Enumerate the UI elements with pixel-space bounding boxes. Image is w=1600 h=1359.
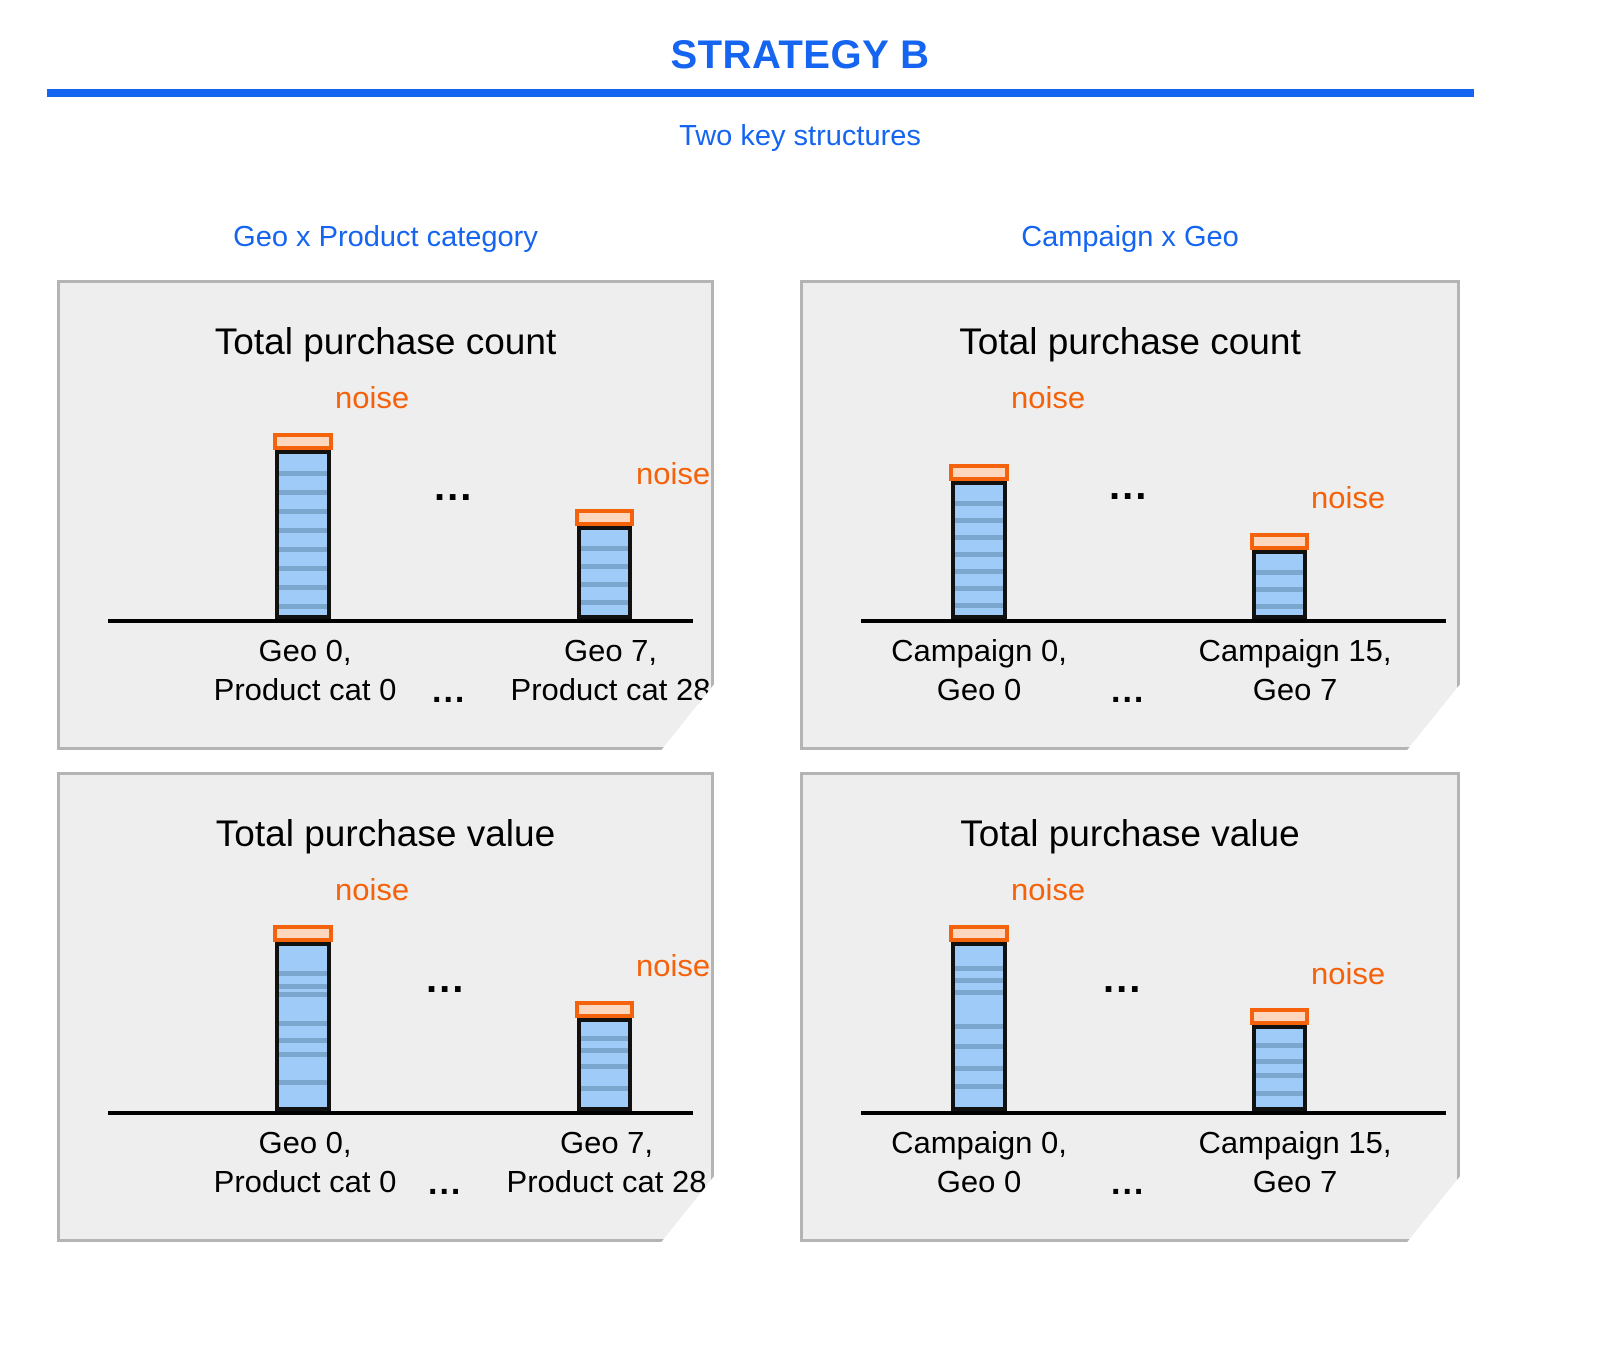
noise-bar (1250, 533, 1309, 550)
category-labels: Campaign 0, Geo 0 ... Campaign 15, Geo 7 (803, 631, 1457, 731)
value-bar (577, 526, 632, 619)
noise-label-secondary: noise (1311, 480, 1385, 516)
category-label: Geo 7, Product cat 28 (494, 1123, 719, 1202)
plot-ellipsis: ... (426, 959, 465, 999)
bar-group-secondary (1252, 533, 1307, 619)
panel-title: Total purchase count (60, 321, 711, 363)
category-label: Campaign 15, Geo 7 (1175, 1123, 1415, 1202)
noise-bar (1250, 1008, 1309, 1025)
category-label: Campaign 15, Geo 7 (1175, 631, 1415, 710)
bar-group-secondary (577, 1001, 632, 1111)
value-bar (275, 450, 331, 619)
label-ellipsis: ... (1111, 674, 1145, 708)
column-heading-campaign-geo: Campaign x Geo (800, 221, 1460, 254)
panel-title: Total purchase count (803, 321, 1457, 363)
panel-value-geo-product: Total purchase value noise ... noise Geo… (57, 772, 714, 1242)
noise-label-secondary: noise (636, 948, 710, 984)
label-ellipsis: ... (1111, 1166, 1145, 1200)
x-axis (108, 619, 693, 623)
plot-ellipsis: ... (1109, 466, 1148, 506)
bar-group-primary (951, 464, 1007, 619)
category-label: Campaign 0, Geo 0 (865, 631, 1093, 710)
noise-label-secondary: noise (636, 456, 710, 492)
bar-chart: noise ... noise (60, 388, 711, 623)
noise-bar-inner (1254, 537, 1305, 546)
category-labels: Geo 0, Product cat 0 ... Geo 7, Product … (60, 1123, 711, 1223)
noise-label-primary: noise (335, 380, 409, 416)
value-bar (951, 942, 1007, 1111)
value-bar (1252, 1025, 1307, 1111)
panel-value-campaign-geo: Total purchase value noise ... noise Cam… (800, 772, 1460, 1242)
bar-group-primary (275, 925, 331, 1111)
bar-group-primary (275, 433, 331, 619)
category-label: Geo 0, Product cat 0 (200, 631, 410, 710)
label-ellipsis: ... (432, 674, 466, 708)
category-label: Geo 0, Product cat 0 (200, 1123, 410, 1202)
noise-bar (273, 925, 333, 942)
bar-group-primary (951, 925, 1007, 1111)
bar-chart: noise ... noise (60, 880, 711, 1115)
noise-bar-inner (277, 437, 329, 446)
noise-bar (575, 1001, 634, 1018)
noise-label-secondary: noise (1311, 956, 1385, 992)
noise-bar (949, 464, 1009, 481)
label-ellipsis: ... (428, 1166, 462, 1200)
noise-bar-inner (579, 1005, 630, 1014)
page-title: STRATEGY B (0, 33, 1600, 78)
category-labels: Campaign 0, Geo 0 ... Campaign 15, Geo 7 (803, 1123, 1457, 1223)
noise-bar-inner (953, 929, 1005, 938)
x-axis (861, 1111, 1446, 1115)
bar-chart: noise ... noise (803, 388, 1457, 623)
noise-bar-inner (277, 929, 329, 938)
x-axis (861, 619, 1446, 623)
noise-bar (273, 433, 333, 450)
bar-group-secondary (577, 509, 632, 619)
noise-bar (949, 925, 1009, 942)
category-label: Campaign 0, Geo 0 (865, 1123, 1093, 1202)
category-labels: Geo 0, Product cat 0 ... Geo 7, Product … (60, 631, 711, 731)
noise-bar-inner (953, 468, 1005, 477)
noise-label-primary: noise (335, 872, 409, 908)
value-bar (577, 1018, 632, 1111)
value-bar (951, 481, 1007, 619)
panel-title: Total purchase value (803, 813, 1457, 855)
noise-bar-inner (579, 513, 630, 522)
value-bar (1252, 550, 1307, 619)
noise-label-primary: noise (1011, 380, 1085, 416)
plot-ellipsis: ... (1103, 959, 1142, 999)
bar-group-secondary (1252, 1008, 1307, 1111)
noise-bar (575, 509, 634, 526)
panel-count-campaign-geo: Total purchase count noise ... noise Cam… (800, 280, 1460, 750)
plot-ellipsis: ... (434, 467, 473, 507)
value-bar (275, 942, 331, 1111)
panel-title: Total purchase value (60, 813, 711, 855)
page-subtitle: Two key structures (0, 120, 1600, 153)
bar-chart: noise ... noise (803, 880, 1457, 1115)
column-heading-geo-product: Geo x Product category (57, 221, 714, 254)
panel-count-geo-product: Total purchase count noise ... noise Geo… (57, 280, 714, 750)
x-axis (108, 1111, 693, 1115)
title-divider (47, 89, 1474, 97)
category-label: Geo 7, Product cat 28 (498, 631, 723, 710)
noise-label-primary: noise (1011, 872, 1085, 908)
noise-bar-inner (1254, 1012, 1305, 1021)
